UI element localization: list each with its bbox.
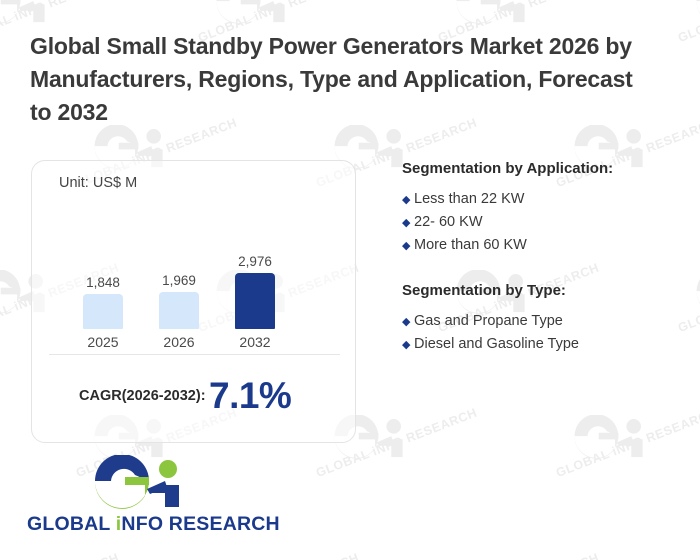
segmentation-title: Segmentation by Type:	[402, 282, 687, 299]
watermark-tile: GLOBAL iNFO RESEARCH	[568, 415, 700, 560]
bullet-icon: ◆	[402, 311, 414, 333]
bullet-icon: ◆	[402, 334, 414, 356]
page-title: Global Small Standby Power Generators Ma…	[30, 30, 650, 129]
segmentation-item-label: 22- 60 KW	[414, 211, 483, 233]
segmentation-list-item: ◆Diesel and Gasoline Type	[402, 333, 687, 356]
cagr-row: CAGR(2026-2032): 7.1%	[32, 366, 357, 426]
bullet-icon: ◆	[402, 212, 414, 234]
segmentation-item-label: Gas and Propane Type	[414, 310, 563, 332]
brand-word-global: GLOBAL	[27, 513, 116, 535]
bar-rect	[83, 294, 123, 329]
market-size-bar-chart: 1,848 2025 1,969 2026 2,976 2032	[32, 191, 357, 351]
market-stats-card: Unit: US$ M 1,848 2025 1,969 2026 2,976 …	[31, 160, 356, 443]
segmentation-list-item: ◆Gas and Propane Type	[402, 310, 687, 333]
watermark-gi-icon	[690, 0, 700, 42]
watermark-text: GLOBAL iNFO RESEARCH	[676, 0, 700, 45]
bar-group: 1,969 2026	[141, 273, 217, 351]
brand-word-rest: NFO RESEARCH	[121, 513, 279, 535]
segmentation-item-label: Less than 22 KW	[414, 188, 524, 210]
segmentation-panel: Segmentation by Application:◆Less than 2…	[402, 160, 687, 356]
watermark-text: GLOBAL iNFO RESEARCH	[554, 406, 700, 481]
segmentation-list-item: ◆22- 60 KW	[402, 211, 687, 234]
watermark-text: GLOBAL iNFO RESEARCH	[436, 551, 601, 560]
bullet-icon: ◆	[402, 189, 414, 211]
watermark-text: GLOBAL iNFO RESEARCH	[196, 551, 361, 560]
segmentation-item-label: Diesel and Gasoline Type	[414, 333, 579, 355]
bar-rect	[159, 292, 199, 329]
cagr-value: 7.1%	[209, 376, 291, 416]
bar-category-label: 2032	[217, 334, 293, 351]
segmentation-block: Segmentation by Type:◆Gas and Propane Ty…	[402, 282, 687, 356]
bar-group: 1,848 2025	[65, 275, 141, 351]
card-divider	[49, 354, 340, 355]
chart-unit-label: Unit: US$ M	[59, 175, 137, 191]
bar-value-label: 1,969	[141, 273, 217, 288]
brand-logo: GLOBAL iNFO RESEARCH	[27, 455, 242, 540]
bar-category-label: 2025	[65, 334, 141, 351]
segmentation-block: Segmentation by Application:◆Less than 2…	[402, 160, 687, 257]
bar-rect	[235, 273, 275, 329]
watermark-tile: GLOBAL iNFO RESEARCH	[690, 0, 700, 130]
bar-category-label: 2026	[141, 334, 217, 351]
bar-group: 2,976 2032	[217, 254, 293, 351]
brand-wordmark: GLOBAL iNFO RESEARCH	[27, 513, 242, 536]
watermark-gi-icon	[568, 415, 654, 477]
gi-logo-icon	[87, 455, 193, 513]
watermark-tile: GLOBAL iNFO RESEARCH	[328, 415, 568, 560]
bar-value-label: 2,976	[217, 254, 293, 269]
segmentation-title: Segmentation by Application:	[402, 160, 687, 177]
watermark-text: GLOBAL iNFO RESEARCH	[0, 551, 121, 560]
watermark-tile: GLOBAL iNFO RESEARCH	[690, 270, 700, 420]
bullet-icon: ◆	[402, 235, 414, 257]
segmentation-list-item: ◆Less than 22 KW	[402, 188, 687, 211]
watermark-text: GLOBAL iNFO RESEARCH	[676, 551, 700, 560]
watermark-gi-icon	[690, 270, 700, 332]
segmentation-item-label: More than 60 KW	[414, 234, 527, 256]
segmentation-list-item: ◆More than 60 KW	[402, 234, 687, 257]
bar-value-label: 1,848	[65, 275, 141, 290]
cagr-label: CAGR(2026-2032):	[79, 387, 209, 406]
